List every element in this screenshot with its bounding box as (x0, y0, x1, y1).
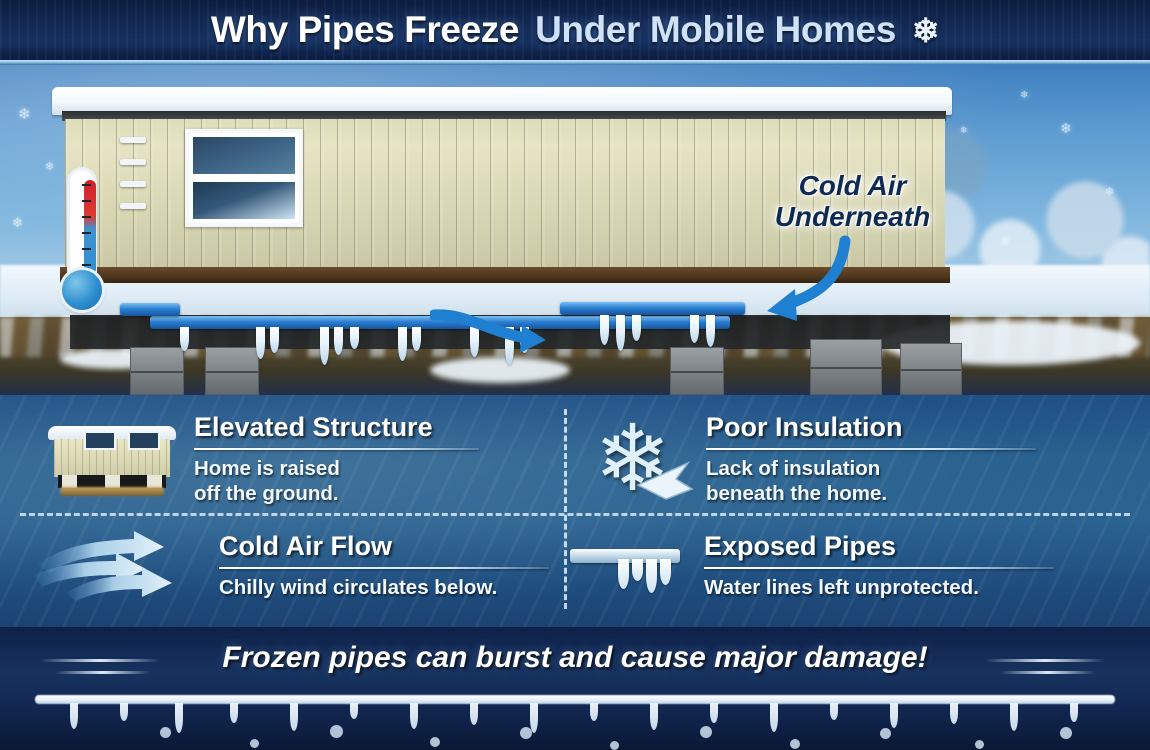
page-title: Why Pipes Freeze Under Mobile Homes ❄ (211, 9, 939, 51)
title-part-2: Under Mobile Homes (535, 9, 896, 51)
icicle (632, 559, 643, 581)
snow-dot (790, 739, 800, 749)
pier-block (130, 347, 184, 395)
snowflake-icon: ❄ (912, 14, 939, 47)
fact-exposed-pipes[interactable]: Exposed Pipes Water lines left unprotect… (570, 523, 1130, 609)
cursor-arrow-icon (636, 455, 694, 503)
title-part-1: Why Pipes Freeze (211, 9, 519, 51)
mini-window (84, 431, 116, 450)
icicle (230, 703, 238, 723)
icicle (632, 315, 641, 341)
callout-line-2: Underneath (735, 201, 970, 232)
icicle (175, 703, 183, 733)
snow-particle: ❄ (1105, 185, 1114, 198)
fact-text: Elevated Structure Home is raised off th… (194, 412, 479, 506)
icicle (334, 327, 343, 355)
fact-text: Poor Insulation Lack of insulation benea… (706, 412, 1036, 506)
snow-dot (880, 728, 891, 739)
fact-body-line-1: Home is raised (194, 457, 479, 482)
thermometer-tick (82, 248, 91, 250)
snow-dot (160, 727, 171, 738)
fact-heading: Cold Air Flow (219, 531, 549, 565)
arrows-svg (30, 531, 195, 601)
icicle (618, 559, 629, 589)
icicle (398, 327, 407, 361)
pier-block (670, 347, 724, 395)
icicle (350, 703, 358, 719)
snow-particle: ❄ (960, 125, 968, 136)
icicle (180, 327, 189, 351)
vertical-divider (564, 409, 567, 609)
snowflake-icon: ❄ (594, 415, 690, 503)
warning-banner: Frozen pipes can burst and cause major d… (0, 627, 1150, 750)
snow-particle: ❄ (18, 105, 31, 123)
snow-particle: ❄ (1060, 120, 1072, 137)
snow-dot (330, 725, 343, 738)
icicle (412, 327, 421, 351)
elevated-home-icon (48, 422, 176, 496)
icicle (120, 703, 128, 721)
mini-window (128, 431, 160, 450)
fact-body-line-1: Lack of insulation (706, 457, 1036, 482)
thermometer-tick (82, 216, 91, 218)
thermometer-tick (82, 232, 91, 234)
header-bar: Why Pipes Freeze Under Mobile Homes ❄ (0, 0, 1150, 60)
fact-heading: Elevated Structure (194, 412, 479, 446)
thermometer-tick (82, 184, 91, 186)
pier-block (900, 343, 962, 395)
pier-block (810, 339, 882, 395)
icicle (690, 315, 699, 343)
snow-dot (430, 737, 440, 747)
thermometer-tick (82, 200, 91, 202)
heading-underline (219, 567, 549, 569)
thermometer-tube (70, 170, 94, 282)
callout-line-1: Cold Air (735, 170, 970, 201)
snow-dot (1060, 727, 1072, 739)
icicle (270, 327, 279, 353)
fact-body-line-1: Chilly wind circulates below. (219, 576, 549, 601)
icicle (470, 703, 478, 725)
icicle (646, 559, 657, 593)
snow-particle: ❄ (1020, 90, 1028, 101)
icicle (70, 703, 78, 729)
snow-dot (610, 741, 619, 750)
heading-underline (706, 448, 1036, 450)
snow-particle: ❄ (12, 215, 23, 231)
infographic-root: Why Pipes Freeze Under Mobile Homes ❄ ❄ … (0, 0, 1150, 750)
air-flow-arrows-icon (30, 531, 195, 601)
icicle (950, 703, 958, 724)
thermometer-fluid (84, 180, 96, 275)
snow-particle: ❄ (1000, 235, 1010, 249)
curved-arrow-icon (745, 235, 860, 325)
icicle (616, 315, 625, 351)
icicle (530, 703, 538, 733)
snow-dot (520, 727, 532, 739)
water-pipe-left-riser (120, 303, 180, 316)
thermometer-tick (82, 264, 91, 266)
fact-cold-air-flow[interactable]: Cold Air Flow Chilly wind circulates bel… (30, 523, 550, 609)
icicle (830, 703, 838, 720)
fact-poor-insulation[interactable]: ❄ Poor Insulation Lack of insulation ben… (594, 409, 1114, 509)
icicle (650, 703, 658, 730)
icicle (1010, 703, 1018, 731)
icicle (600, 315, 609, 345)
icicle (350, 327, 359, 349)
snow-particle: ❄ (45, 160, 54, 173)
icicle (1070, 703, 1078, 722)
fact-body-line-2: beneath the home. (706, 482, 1036, 507)
icicle (256, 327, 265, 359)
icicle (590, 703, 598, 721)
icicle (706, 315, 715, 347)
fact-elevated-structure[interactable]: Elevated Structure Home is raised off th… (48, 409, 548, 509)
roof-snow (52, 87, 952, 115)
flow-arrow-icon (430, 309, 550, 357)
scene-illustration: ❄ ❄ ❄ ❄ ❄ ❄ ❄ ❄ ❄ ❄ (0, 65, 1150, 395)
mini-ground (60, 487, 164, 496)
horizontal-divider (20, 513, 1130, 516)
heading-underline (704, 567, 1054, 569)
icicle (890, 703, 898, 728)
fact-text: Exposed Pipes Water lines left unprotect… (704, 531, 1054, 601)
facts-grid: Elevated Structure Home is raised off th… (0, 395, 1150, 627)
ladder-icon (120, 137, 146, 209)
water-pipe-right (560, 302, 745, 315)
window-pane-top (193, 137, 295, 174)
fact-heading: Exposed Pipes (704, 531, 1054, 565)
icicle (660, 559, 671, 585)
icicle (320, 327, 329, 365)
banner-text: Frozen pipes can burst and cause major d… (0, 641, 1150, 675)
window-pane-bottom (193, 182, 295, 219)
window-icon (185, 129, 303, 227)
thermometer-bulb (62, 270, 102, 310)
icicle (770, 703, 778, 732)
fact-body-line-2: off the ground. (194, 482, 479, 507)
frozen-pipe-icon (570, 533, 688, 599)
icicle (290, 703, 298, 731)
callout-cold-air: Cold Air Underneath (735, 170, 970, 233)
fact-heading: Poor Insulation (706, 412, 1036, 446)
fact-body-line-1: Water lines left unprotected. (704, 576, 1054, 601)
thermometer-icon (62, 170, 102, 310)
heading-underline (194, 448, 479, 450)
pier-block (205, 347, 259, 395)
snow-dot (250, 739, 259, 748)
snow-dot (700, 726, 712, 738)
snow-patch (430, 357, 570, 383)
snow-dot (975, 740, 984, 749)
icicle (710, 703, 718, 723)
icicle (410, 703, 418, 729)
fact-text: Cold Air Flow Chilly wind circulates bel… (219, 531, 549, 601)
